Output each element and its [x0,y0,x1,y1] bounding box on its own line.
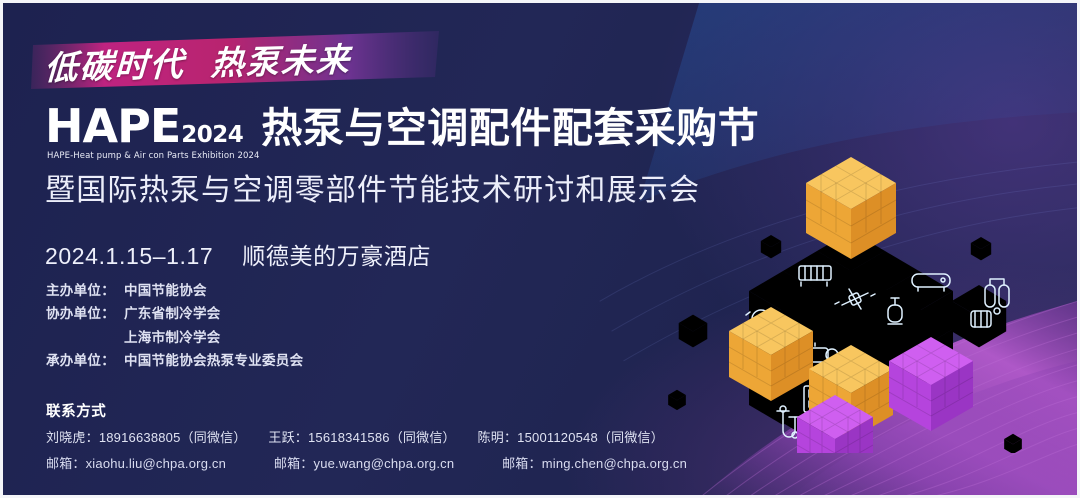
organizer-row: 上海市制冷学会 [46,330,303,347]
organizer-row: 主办单位： 中国节能协会 [46,283,303,300]
organizer-value: 上海市制冷学会 [124,330,221,347]
organizer-label: 承办单位： [46,353,124,370]
slogan-right: 热泵未来 [210,33,352,85]
contact-email-item: 邮箱：yue.wang@chpa.org.cn [274,456,454,471]
slogan-left: 低碳时代 [44,38,186,90]
headline-block: HAPE2024 HAPE-Heat pump & Air con Parts … [45,103,745,209]
contact-email-list: 邮箱：xiaohu.liu@chpa.org.cn 邮箱：yue.wang@ch… [46,453,731,472]
contact-phone: 15618341586 [308,430,390,445]
email-label: 邮箱： [502,456,542,471]
event-date: 2024.1.15–1.17 [45,243,213,269]
event-venue: 顺德美的万豪酒店 [242,243,431,269]
email-address[interactable]: ming.chen@chpa.org.cn [542,456,687,471]
contact-name: 刘晓虎： [46,430,99,445]
contact-note: （同微信） [181,430,247,445]
contact-person: 刘晓虎：18916638805（同微信） [46,430,247,445]
organizer-value: 广东省制冷学会 [124,306,221,323]
contact-note: （同微信） [390,430,456,445]
contact-email-item: 邮箱：ming.chen@chpa.org.cn [502,456,687,471]
contact-note: （同微信） [598,430,664,445]
contact-phone: 18916638805 [99,430,181,445]
headline-line-1: HAPE2024 HAPE-Heat pump & Air con Parts … [45,103,745,149]
organizer-list: 主办单位： 中国节能协会 协办单位： 广东省制冷学会 上海市制冷学会 承办单位：… [46,283,303,377]
contact-person: 陈明：15001120548（同微信） [478,430,664,445]
isometric-cube-cluster: .cb .t{fill:#2aa8e8}.cb .l{fill:#1c7ad2}… [663,123,1063,453]
contact-name: 陈明： [478,430,518,445]
email-address[interactable]: xiaohu.liu@chpa.org.cn [86,456,226,471]
slogan-text: 低碳时代 热泵未来 [43,26,436,95]
organizer-row: 协办单位： 广东省制冷学会 [46,306,303,323]
contact-email-item: 邮箱：xiaohu.liu@chpa.org.cn [46,456,226,471]
organizer-value: 中国节能协会 [124,283,207,300]
contact-person: 王跃：15618341586（同微信） [268,430,455,445]
page-subtitle: 暨国际热泵与空调零部件节能技术研讨和展示会 [45,165,745,209]
contact-heading: 联系方式 [46,400,106,421]
organizer-label: 主办单位： [46,283,124,300]
poster-banner: 低碳时代 热泵未来 HAPE2024 HAPE-Heat pump & Air … [0,0,1080,498]
email-address[interactable]: yue.wang@chpa.org.cn [314,456,455,471]
email-label: 邮箱： [46,456,86,471]
brand-lockup: HAPE2024 HAPE-Heat pump & Air con Parts … [45,103,253,149]
organizer-row: 承办单位： 中国节能协会热泵专业委员会 [46,353,303,370]
slogan-ribbon: 低碳时代 热泵未来 [31,29,441,91]
brand-english-subtitle: HAPE-Heat pump & Air con Parts Exhibitio… [47,151,260,161]
email-label: 邮箱： [274,456,314,471]
organizer-value: 中国节能协会热泵专业委员会 [124,353,303,370]
event-date-venue: 2024.1.15–1.17 顺德美的万豪酒店 [45,237,431,271]
organizer-label: 协办单位： [46,306,124,323]
brand-year: 2024 [181,122,243,148]
contact-phone-list: 刘晓虎：18916638805（同微信） 王跃：15618341586（同微信）… [46,427,682,446]
contact-name: 王跃： [268,430,308,445]
brand-name: HAPE [45,103,180,149]
organizer-label [46,330,124,347]
contact-phone: 15001120548 [517,430,598,445]
